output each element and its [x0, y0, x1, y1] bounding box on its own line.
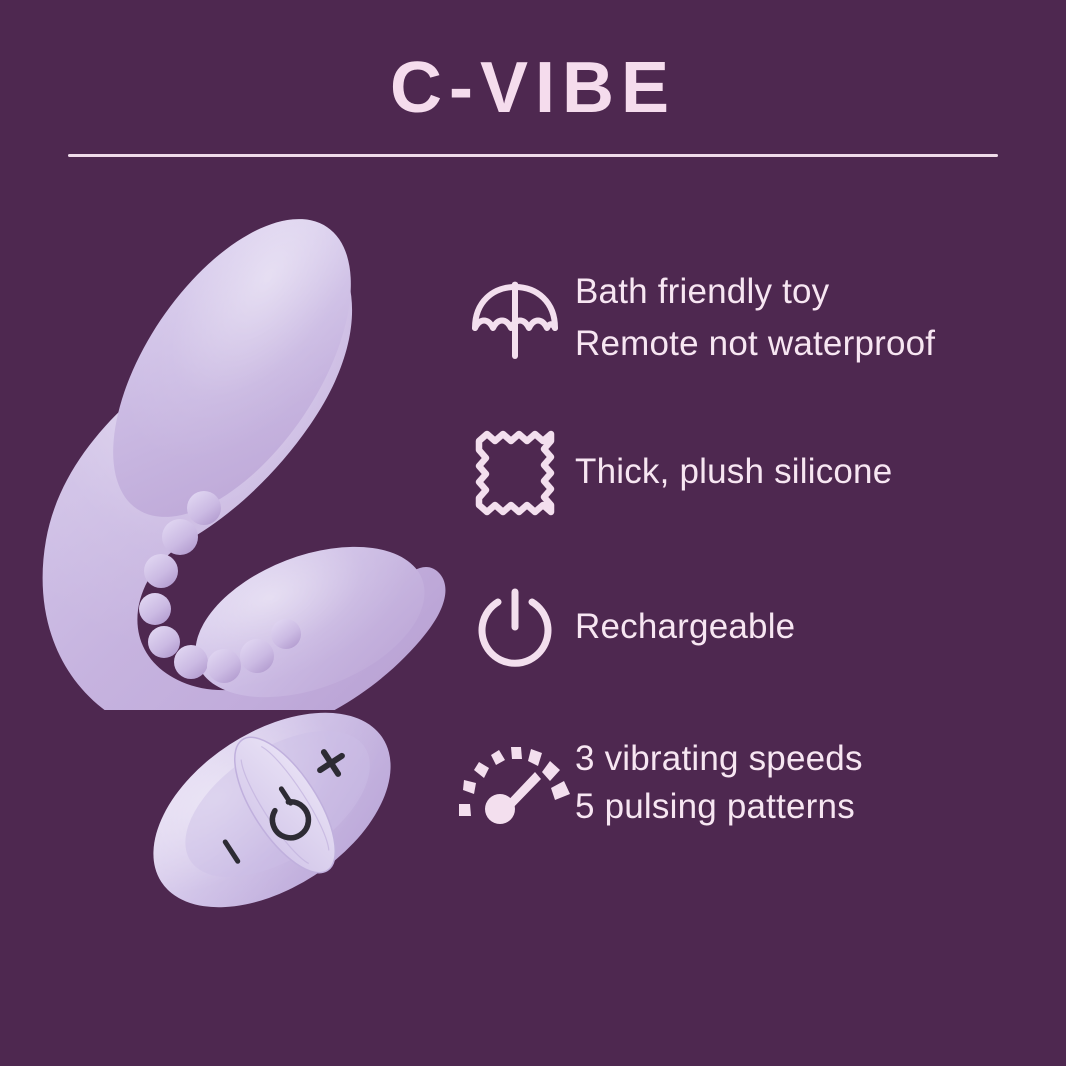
page-title: C-VIBE — [0, 52, 1066, 124]
feature-line-1: Thick, plush silicone — [575, 452, 892, 491]
feature-item-silicone: Thick, plush silicone — [455, 395, 1055, 550]
feature-line-1: Bath friendly toy — [575, 272, 829, 311]
header-divider — [68, 154, 998, 157]
remote-control-graphic — [135, 685, 410, 935]
vibrator-lower-arm — [174, 517, 445, 710]
c-shaped-vibrator-graphic — [10, 190, 450, 710]
gauge-needle — [485, 772, 541, 824]
feature-item-rechargeable: Rechargeable — [455, 550, 1055, 705]
feature-line-1: 3 vibrating speeds — [575, 739, 863, 778]
power-icon — [455, 584, 575, 672]
speedometer-icon — [455, 742, 575, 824]
feature-item-speeds: 3 vibrating speeds 5 pulsing patterns — [455, 705, 1055, 860]
product-infographic: C-VIBE — [0, 0, 1066, 1066]
umbrella-icon — [455, 270, 575, 366]
feature-text: 3 vibrating speeds 5 pulsing patterns — [575, 735, 1055, 831]
feature-text: Bath friendly toy Remote not waterproof — [575, 266, 1055, 370]
feature-line-2: Remote not waterproof — [575, 318, 1055, 370]
feature-list: Bath friendly toy Remote not waterproof … — [455, 240, 1055, 860]
product-illustration — [0, 180, 460, 970]
feature-text: Thick, plush silicone — [575, 453, 1055, 492]
wavy-square-icon — [455, 427, 575, 519]
feature-line-1: Rechargeable — [575, 607, 795, 646]
feature-item-bath-friendly: Bath friendly toy Remote not waterproof — [455, 240, 1055, 395]
feature-line-2: 5 pulsing patterns — [575, 783, 1055, 831]
feature-text: Rechargeable — [575, 608, 1055, 647]
